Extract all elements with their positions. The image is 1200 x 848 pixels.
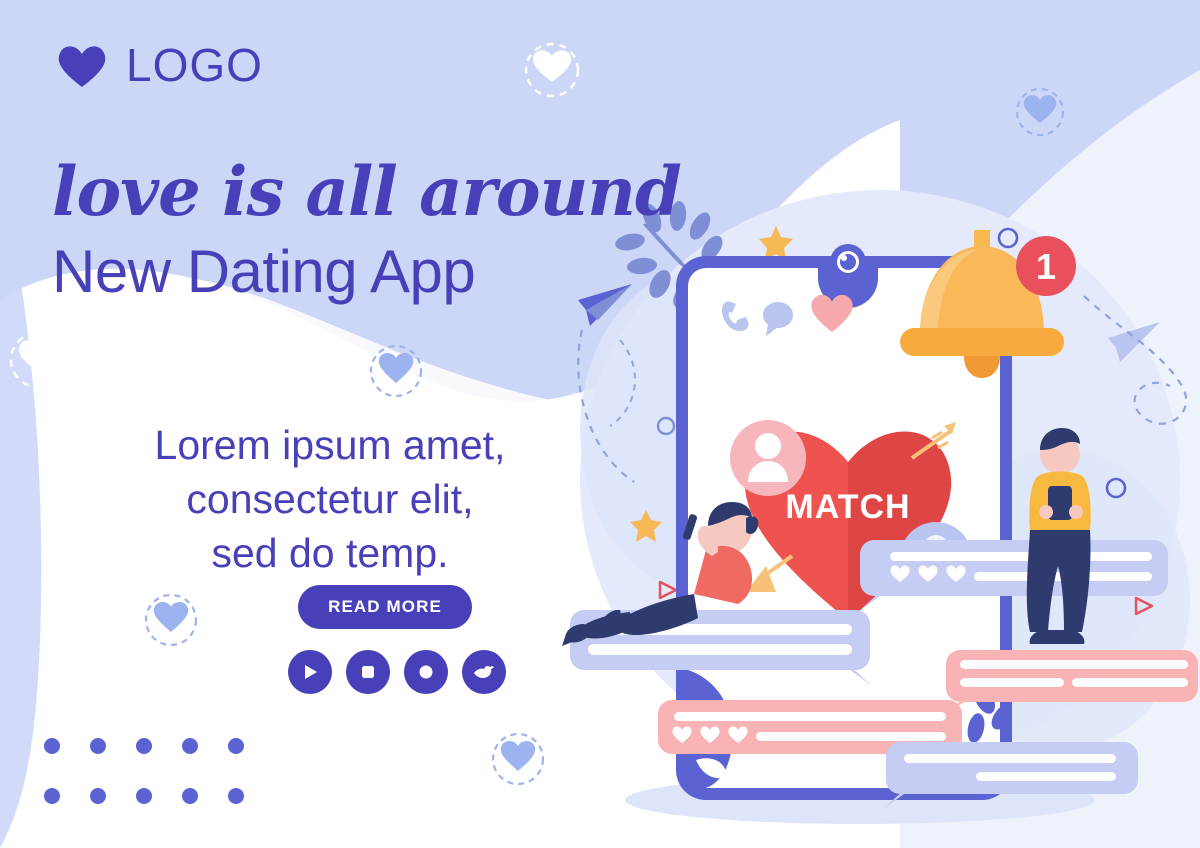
- man-standing-with-phone: [1027, 428, 1091, 644]
- instagram-icon[interactable]: [346, 650, 390, 694]
- bell-badge: 1: [1016, 236, 1076, 296]
- paper-plane-icon-2: [1108, 322, 1160, 362]
- logo[interactable]: LOGO: [56, 38, 263, 92]
- circle-outline-decoration-3: [1107, 479, 1125, 497]
- notification-bell: 1: [900, 230, 1076, 378]
- read-more-button[interactable]: READ MORE: [298, 585, 472, 629]
- dashed-heart-top-right: [1017, 89, 1063, 135]
- logo-text: LOGO: [126, 38, 263, 92]
- star-icon: [759, 226, 793, 260]
- play-triangle-outline-icon: [660, 582, 676, 598]
- heart-icon: [56, 41, 108, 89]
- circle-outline-decoration-2: [999, 229, 1017, 247]
- headline-script: love is all around: [52, 158, 632, 225]
- circle-outline-decoration: [658, 418, 674, 434]
- play-triangle-outline-icon-2: [1136, 598, 1152, 614]
- avatar-left: [730, 420, 806, 496]
- dating-app-illustration: MATCH: [560, 200, 1200, 848]
- bell-badge-count: 1: [1036, 246, 1056, 287]
- match-label: MATCH: [785, 488, 910, 526]
- body-line-1: Lorem ipsum amet,: [110, 418, 550, 472]
- headline-subtitle: New Dating App: [52, 240, 652, 305]
- social-links: [288, 650, 506, 694]
- youtube-icon[interactable]: [288, 650, 332, 694]
- dashed-curve-decoration-3: [1084, 296, 1186, 424]
- twitter-icon[interactable]: [462, 650, 506, 694]
- dot-grid-decoration: [44, 738, 254, 808]
- hero-content: LOGO love is all around New Dating App L…: [0, 0, 640, 848]
- body-line-3: sed do temp.: [110, 526, 550, 580]
- dating-app-poster: MATCH: [0, 0, 1200, 848]
- body-copy: Lorem ipsum amet, consectetur elit, sed …: [110, 418, 550, 580]
- body-line-2: consectetur elit,: [110, 472, 550, 526]
- facebook-icon[interactable]: [404, 650, 448, 694]
